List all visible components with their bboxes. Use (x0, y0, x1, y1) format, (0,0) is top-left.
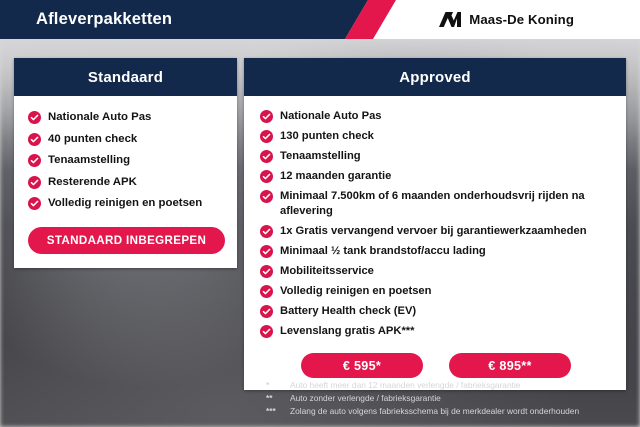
feature-label: Battery Health check (EV) (280, 304, 416, 319)
feature-list-approved: Nationale Auto Pas 130 punten check (260, 109, 612, 339)
feature-label: Volledig reinigen en poetsen (48, 196, 202, 211)
check-circle-icon (260, 285, 273, 298)
footnote-text: Zolang de auto volgens fabrieksschema bi… (290, 406, 579, 417)
card-title-standaard: Standaard (14, 58, 237, 96)
check-circle-icon (28, 154, 41, 167)
standaard-inbegrepen-button[interactable]: STANDAARD INBEGREPEN (28, 227, 225, 254)
feature-label: 1x Gratis vervangend vervoer bij garanti… (280, 224, 587, 239)
feature-label: Tenaamstelling (280, 149, 361, 164)
maas-de-koning-m-logo-icon (439, 12, 461, 27)
check-circle-icon (28, 197, 41, 210)
brand-name: Maas-De Koning (469, 12, 574, 27)
feature-list-standaard: Nationale Auto Pas 40 punten check (28, 110, 225, 211)
check-circle-icon (260, 325, 273, 338)
check-circle-icon (260, 305, 273, 318)
package-card-approved: Approved Nationale Auto Pas (244, 58, 626, 390)
feature-label: Minimaal ½ tank brandstof/accu lading (280, 244, 486, 259)
slide-canvas: Afleverpakketten Maas-De Koning Standaar… (0, 0, 640, 427)
list-item: Minimaal ½ tank brandstof/accu lading (260, 244, 612, 259)
list-item: Levenslang gratis APK*** (260, 324, 612, 339)
price-button-895[interactable]: € 895** (449, 353, 571, 378)
feature-label: Tenaamstelling (48, 153, 130, 168)
feature-label: Nationale Auto Pas (280, 109, 382, 124)
card-title-approved: Approved (244, 58, 626, 96)
check-circle-icon (28, 176, 41, 189)
check-circle-icon (260, 130, 273, 143)
footnote-row: * Auto heeft meer dan 12 maanden verleng… (266, 380, 626, 391)
feature-label: Levenslang gratis APK*** (280, 324, 415, 339)
footnote-row: *** Zolang de auto volgens fabrieksschem… (266, 406, 626, 417)
card-body-standaard: Nationale Auto Pas 40 punten check (14, 96, 237, 268)
check-circle-icon (28, 111, 41, 124)
list-item: Nationale Auto Pas (260, 109, 612, 124)
list-item: Battery Health check (EV) (260, 304, 612, 319)
page-header: Afleverpakketten Maas-De Koning (0, 0, 640, 39)
check-circle-icon (260, 225, 273, 238)
list-item: Volledig reinigen en poetsen (260, 284, 612, 299)
list-item: Nationale Auto Pas (28, 110, 225, 125)
check-circle-icon (260, 150, 273, 163)
feature-label: Minimaal 7.500km of 6 maanden onderhouds… (280, 189, 612, 219)
check-circle-icon (260, 245, 273, 258)
list-item: 130 punten check (260, 129, 612, 144)
feature-label: 130 punten check (280, 129, 374, 144)
footnote-marker: ** (266, 393, 290, 404)
check-circle-icon (260, 170, 273, 183)
package-card-standaard: Standaard Nationale Auto Pas (14, 58, 237, 268)
page-title: Afleverpakketten (36, 0, 172, 39)
list-item: Volledig reinigen en poetsen (28, 196, 225, 211)
list-item: Tenaamstelling (260, 149, 612, 164)
feature-label: Volledig reinigen en poetsen (280, 284, 431, 299)
footnote-row: ** Auto zonder verlengde / fabrieksgaran… (266, 393, 626, 404)
footnote-text: Auto heeft meer dan 12 maanden verlengde… (290, 380, 520, 391)
feature-label: 12 maanden garantie (280, 169, 391, 184)
footnote-marker: * (266, 380, 290, 391)
list-item: Mobiliteitsservice (260, 264, 612, 279)
list-item: 12 maanden garantie (260, 169, 612, 184)
footnote-text: Auto zonder verlengde / fabrieksgarantie (290, 393, 441, 404)
feature-label: Resterende APK (48, 175, 137, 190)
footnote-marker: *** (266, 406, 290, 417)
feature-label: Nationale Auto Pas (48, 110, 151, 125)
price-button-595[interactable]: € 595* (301, 353, 423, 378)
list-item: Resterende APK (28, 175, 225, 190)
card-body-approved: Nationale Auto Pas 130 punten check (244, 96, 626, 390)
check-circle-icon (260, 110, 273, 123)
list-item: 40 punten check (28, 132, 225, 147)
brand-lockup: Maas-De Koning (439, 0, 574, 39)
feature-label: 40 punten check (48, 132, 137, 147)
list-item: Minimaal 7.500km of 6 maanden onderhouds… (260, 189, 612, 219)
check-circle-icon (28, 133, 41, 146)
footnote-block: * Auto heeft meer dan 12 maanden verleng… (266, 380, 626, 419)
check-circle-icon (260, 265, 273, 278)
check-circle-icon (260, 190, 273, 203)
list-item: Tenaamstelling (28, 153, 225, 168)
feature-label: Mobiliteitsservice (280, 264, 374, 279)
list-item: 1x Gratis vervangend vervoer bij garanti… (260, 224, 612, 239)
price-button-group: € 595* € 895** (260, 353, 612, 378)
